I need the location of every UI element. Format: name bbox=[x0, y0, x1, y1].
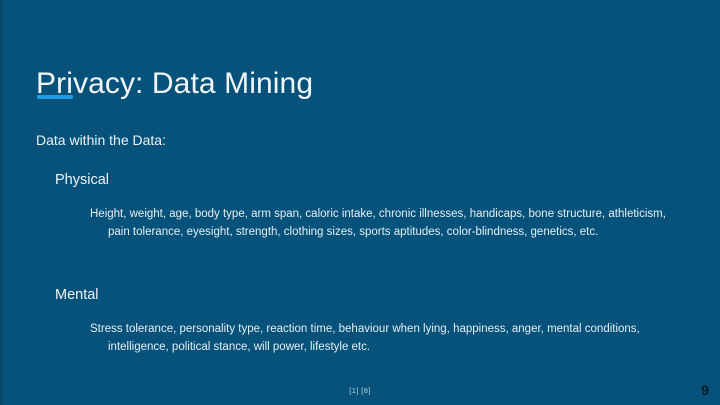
presentation-slide: Privacy: Data Mining Data within the Dat… bbox=[0, 0, 720, 405]
title-accent-bar bbox=[37, 95, 73, 99]
section-body-mental: Stress tolerance, personality type, reac… bbox=[90, 320, 681, 357]
slide-title: Privacy: Data Mining bbox=[36, 67, 313, 100]
lead-text: Data within the Data: bbox=[36, 131, 166, 149]
section-heading-physical: Physical bbox=[55, 171, 680, 191]
section-heading-mental: Mental bbox=[55, 286, 680, 306]
section-mental: Mental Stress tolerance, personality typ… bbox=[55, 286, 680, 357]
section-body-physical: Height, weight, age, body type, arm span… bbox=[90, 205, 681, 242]
section-physical: Physical Height, weight, age, body type,… bbox=[55, 171, 680, 242]
page-number: 9 bbox=[701, 383, 709, 397]
citation-markers: [1] [8] bbox=[0, 386, 720, 395]
